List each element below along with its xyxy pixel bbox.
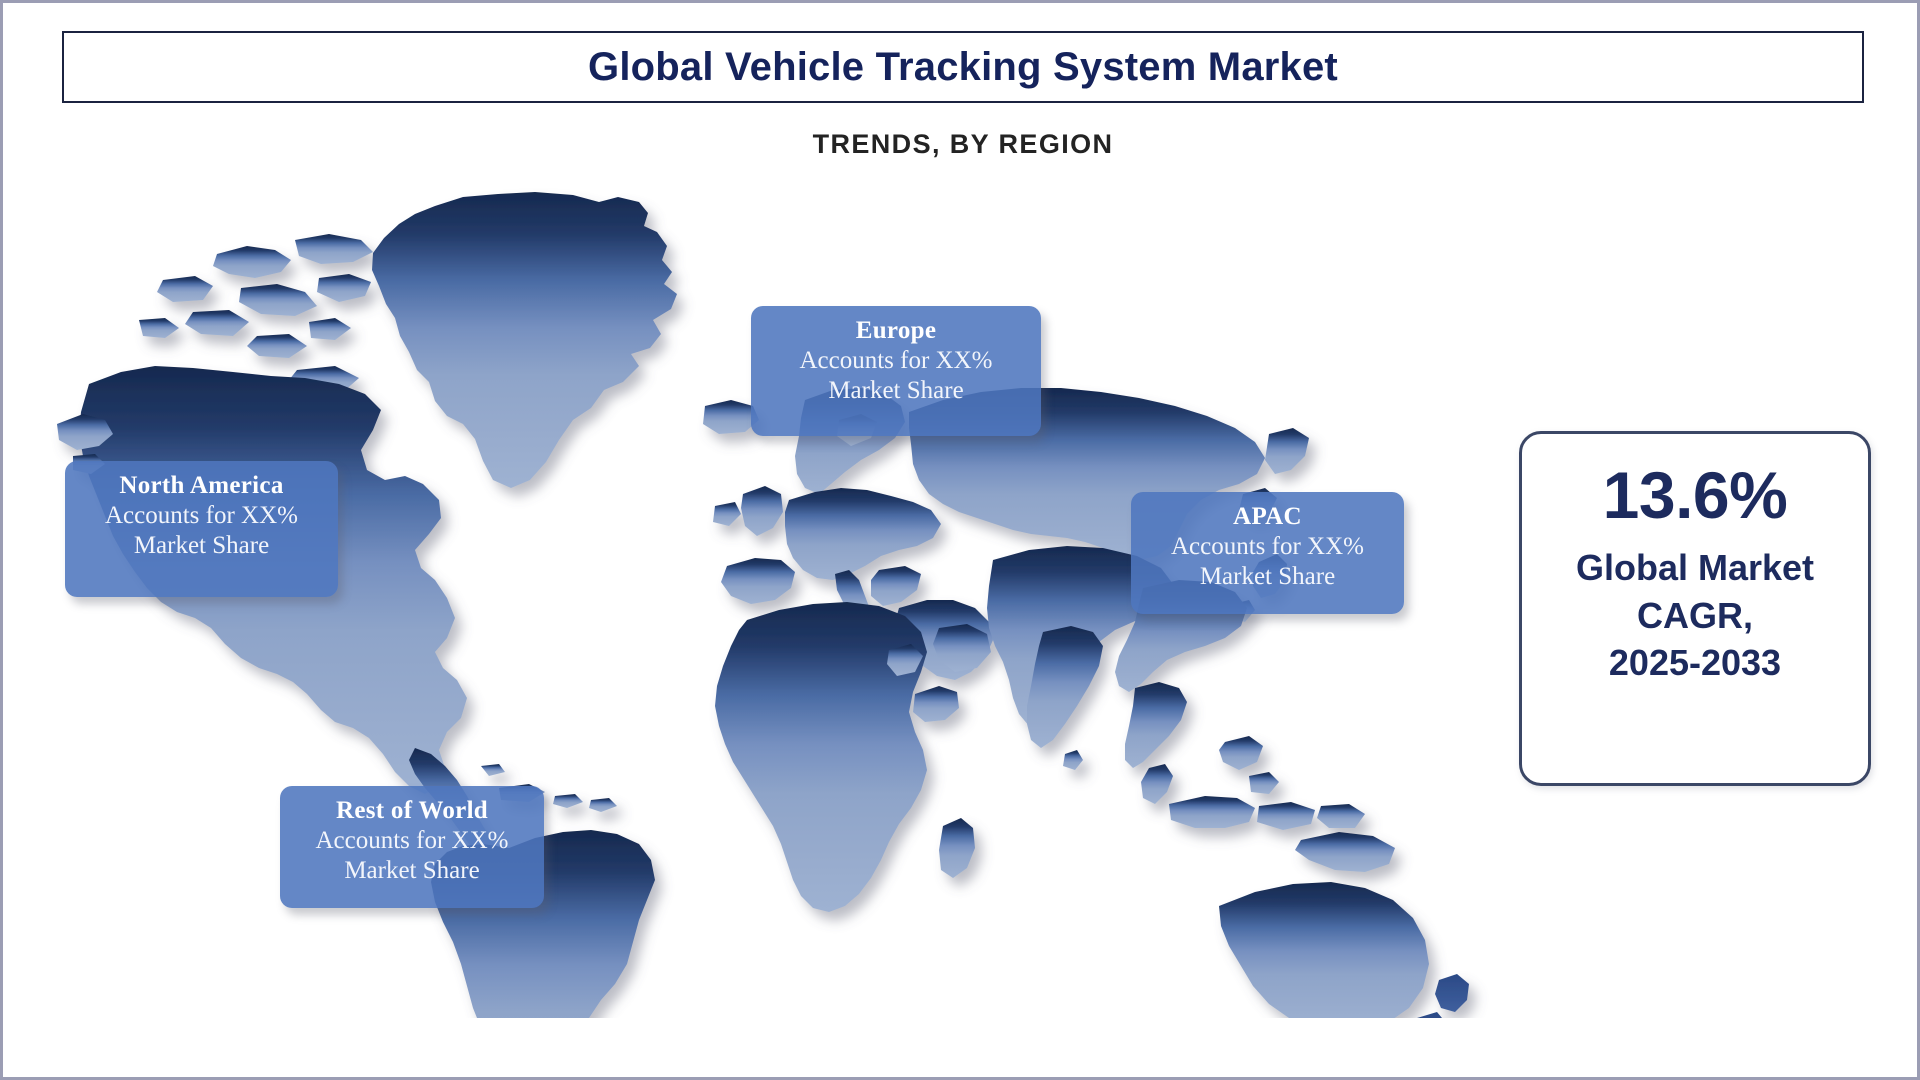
region-name-apac: APAC	[1131, 502, 1404, 532]
region-share-line-apac: Accounts for XX%	[1131, 532, 1404, 562]
cagr-caption: Global Market CAGR, 2025-2033	[1576, 544, 1814, 687]
region-share-label-north-america: Market Share	[65, 531, 338, 561]
page-subtitle: TRENDS, BY REGION	[3, 129, 1920, 160]
cagr-card: 13.6% Global Market CAGR, 2025-2033	[1519, 431, 1871, 786]
region-callout-apac[interactable]: APAC Accounts for XX% Market Share	[1131, 492, 1404, 614]
region-share-line-north-america: Accounts for XX%	[65, 501, 338, 531]
region-name-rest-of-world: Rest of World	[280, 796, 544, 826]
page-title: Global Vehicle Tracking System Market	[588, 45, 1338, 90]
region-name-north-america: North America	[65, 471, 338, 501]
title-box: Global Vehicle Tracking System Market	[62, 31, 1864, 103]
region-share-label-rest-of-world: Market Share	[280, 856, 544, 886]
region-share-label-europe: Market Share	[751, 376, 1041, 406]
region-callout-europe[interactable]: Europe Accounts for XX% Market Share	[751, 306, 1041, 436]
infographic-canvas: Global Vehicle Tracking System Market TR…	[0, 0, 1920, 1080]
region-share-line-rest-of-world: Accounts for XX%	[280, 826, 544, 856]
region-callout-rest-of-world[interactable]: Rest of World Accounts for XX% Market Sh…	[280, 786, 544, 908]
region-name-europe: Europe	[751, 316, 1041, 346]
region-share-line-europe: Accounts for XX%	[751, 346, 1041, 376]
cagr-value: 13.6%	[1603, 462, 1788, 528]
region-callout-north-america[interactable]: North America Accounts for XX% Market Sh…	[65, 461, 338, 597]
region-share-label-apac: Market Share	[1131, 562, 1404, 592]
